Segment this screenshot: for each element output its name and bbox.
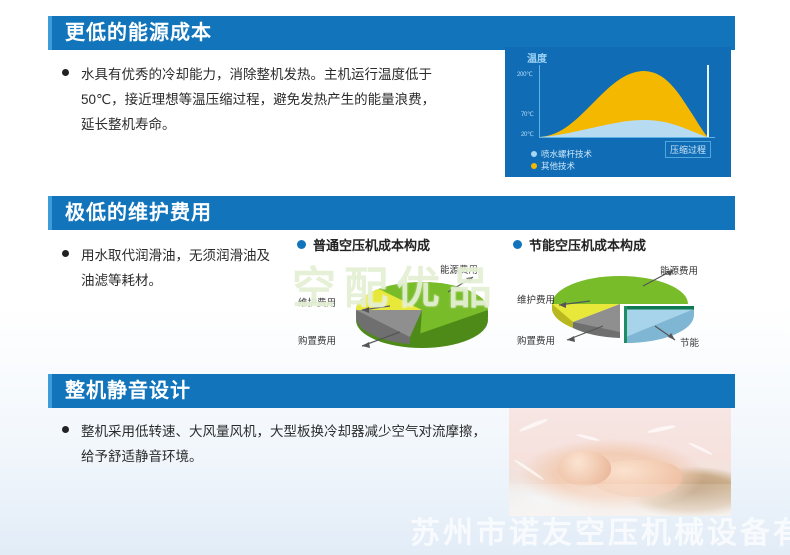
feather-icon [518,417,548,433]
legend-label-water: 喷水螺杆技术 [541,148,592,160]
pie-label-saving-purchase: 购置费用 [517,333,555,347]
bullet-text: 水具有优秀的冷却能力，消除整机发热。主机运行温度低于 50℃，接近理想等温压缩过… [81,62,435,137]
section-header-maintenance-cost: 极低的维护费用 [48,196,735,230]
bullet-dot-icon [62,250,69,257]
bullet-text: 用水取代润滑油，无须润滑油及 油滤等耗材。 [81,243,270,293]
legend-swatch-other-icon [531,163,537,169]
product-feature-page: 更低的能源成本 水具有优秀的冷却能力，消除整机发热。主机运行温度低于 50℃，接… [0,0,790,555]
pie-label-saving-maintenance: 维护费用 [517,292,555,306]
pie-title-label: 节能空压机成本构成 [529,235,646,254]
baby-head [558,451,611,486]
section-header-label: 极低的维护费用 [52,203,212,223]
feather-icon [576,433,600,442]
legend-swatch-water-icon [531,151,537,157]
chart-end-marker [707,65,709,137]
feather-icon [513,459,544,482]
pie-title-dot-icon [297,240,306,249]
bullet-dot-icon [62,69,69,76]
feather-icon [687,441,712,456]
chart-x-axis-label: 压缩过程 [665,141,711,158]
section-header-silent-design: 整机静音设计 [48,374,735,408]
section-header-energy-cost: 更低的能源成本 [48,16,735,50]
chart-legend-item-other: 其他技术 [531,160,575,172]
legend-label-other: 其他技术 [541,160,575,172]
section-header-label: 更低的能源成本 [52,23,212,43]
pie-label-saving-energy: 能源费用 [660,263,698,277]
watermark-bottom: 苏州市诺友空压机械设备有限公司 [410,508,790,552]
chart-legend-item-water: 喷水螺杆技术 [531,148,592,160]
watermark-center: 空配优品 [292,252,500,316]
pie-label-saving-saving: 节能 [680,335,699,349]
pie-label-ordinary-purchase: 购置费用 [298,333,336,347]
feather-icon [647,424,676,434]
pie-title-dot-icon [513,240,522,249]
bullet-energy-cost: 水具有优秀的冷却能力，消除整机发热。主机运行温度低于 50℃，接近理想等温压缩过… [62,62,492,137]
temperature-chart: 温度 200℃ 70℃ 20℃ 压缩过程 喷水螺杆技术 其他技术 [505,47,731,177]
bullet-text: 整机采用低转速、大风量风机，大型板换冷却器减少空气对流摩擦， 给予舒适静音环境。 [81,419,486,469]
bullet-maintenance-cost: 用水取代润滑油，无须润滑油及 油滤等耗材。 [62,243,282,293]
pie-title-saving: 节能空压机成本构成 [513,235,646,254]
bullet-dot-icon [62,426,69,433]
section-header-label: 整机静音设计 [52,381,191,401]
sleeping-baby-photo [509,408,731,516]
bullet-silent-design: 整机采用低转速、大风量风机，大型板换冷却器减少空气对流摩擦， 给予舒适静音环境。 [62,419,502,469]
